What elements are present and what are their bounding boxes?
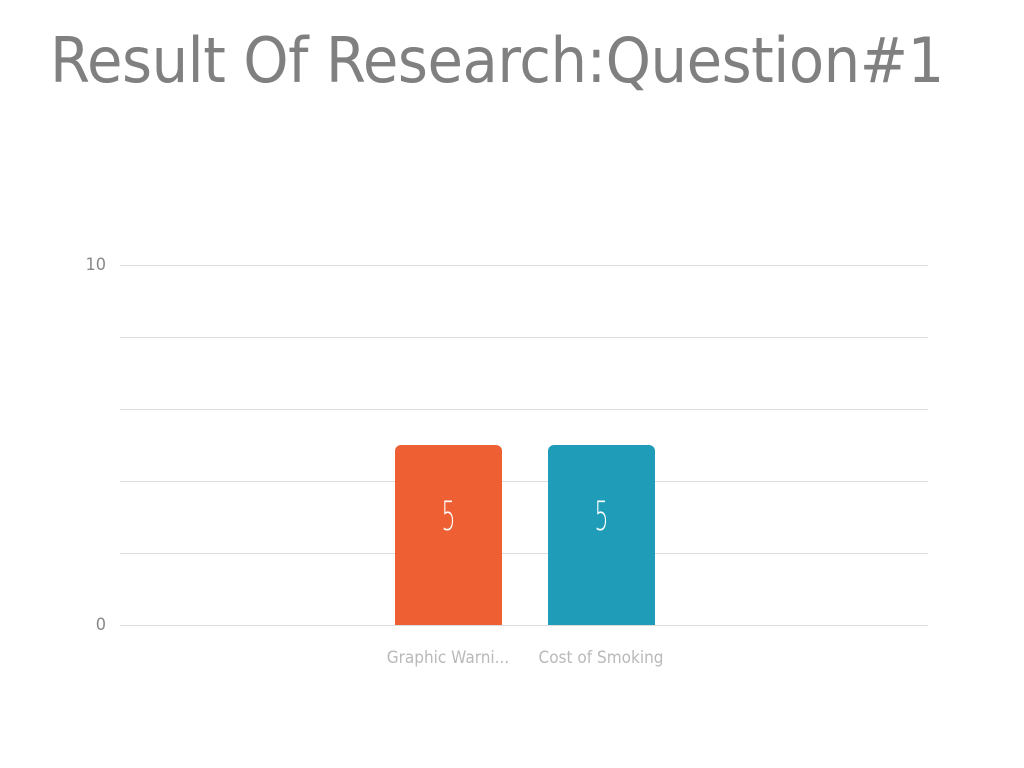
gridline: [120, 337, 928, 338]
gridline: [120, 409, 928, 410]
bar[interactable]: 5: [548, 445, 655, 625]
slide-canvas: Result Of Research:Question#1 100 55 Gra…: [0, 0, 1024, 768]
gridline: [120, 625, 928, 626]
chart-title: Result Of Research:Question#1: [50, 28, 944, 93]
bar-value-label: 5: [419, 497, 478, 537]
y-axis-tick-label: 10: [49, 255, 106, 275]
gridline: [120, 553, 928, 554]
category-label: Graphic Warni...: [367, 648, 529, 668]
bar-value-label: 5: [572, 497, 631, 537]
plot-area: 55: [120, 265, 928, 625]
gridline: [120, 265, 928, 266]
category-label: Cost of Smoking: [520, 648, 682, 668]
bar[interactable]: 5: [395, 445, 502, 625]
y-axis: 100: [44, 265, 106, 625]
y-axis-tick-label: 0: [49, 615, 106, 635]
gridline: [120, 481, 928, 482]
